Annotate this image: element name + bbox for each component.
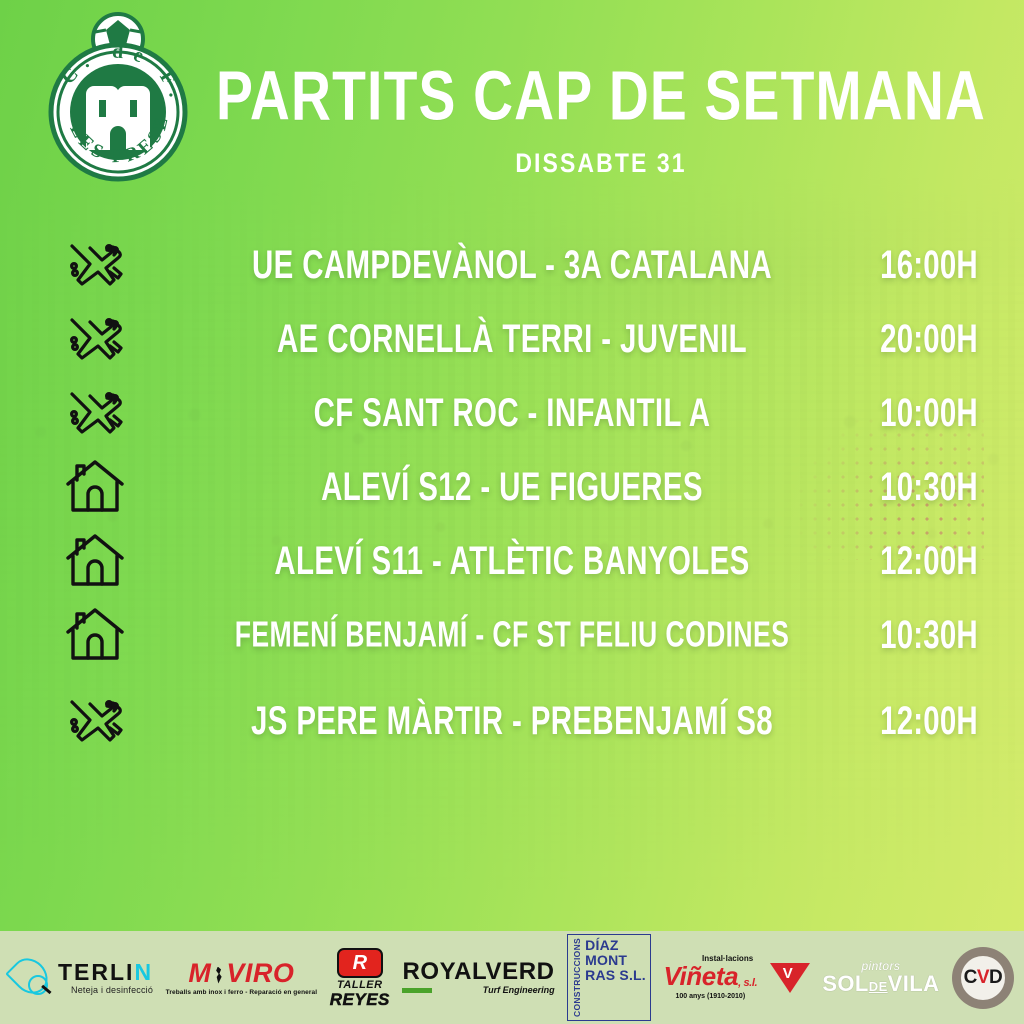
page-title: PARTITS CAP DE SETMANA xyxy=(208,62,994,132)
poster-header: C. de F. LES PRESES PARTITS CAP DE SETMA… xyxy=(0,0,1024,200)
sponsor-vineta-tagline: 100 anys (1910-2010) xyxy=(675,993,745,1000)
sponsor-taller-reyes: R TALLER REYES xyxy=(330,948,390,1008)
match-name: JS PERE MÀRTIR - PREBENJAMÍ S8 xyxy=(206,698,818,745)
match-name: CF SANT ROC - INFANTIL A xyxy=(206,390,818,437)
match-row: CF SANT ROC - INFANTIL A 10:00H xyxy=(0,376,1024,450)
sponsor-vineta-name: Viñeta, s.l. xyxy=(663,963,757,990)
sponsor-cvd: CVD xyxy=(952,947,1014,1009)
plane-icon xyxy=(0,690,190,752)
match-name: ALEVÍ S11 - ATLÈTIC BANYOLES xyxy=(206,538,818,585)
title-block: PARTITS CAP DE SETMANA DISSABTE 31 xyxy=(196,62,1006,174)
moviro-mark-icon xyxy=(213,967,224,984)
sponsor-royalverd-name: ROYALVERD xyxy=(402,960,554,984)
sponsor-vineta: Instal·lacions Viñeta, s.l. 100 anys (19… xyxy=(663,955,757,1000)
house-icon xyxy=(0,530,190,592)
reyes-badge-icon: R xyxy=(337,948,383,978)
sponsor-diaz-line1: DÍAZ xyxy=(585,938,646,953)
plane-icon xyxy=(0,234,190,296)
match-row: FEMENÍ BENJAMÍ - CF ST FELIU CODINES 10:… xyxy=(0,598,1024,672)
sponsor-diaz-line3: RAS S.L. xyxy=(585,968,646,983)
match-row: ALEVÍ S12 - UE FIGUERES 10:30H xyxy=(0,450,1024,524)
match-name: AE CORNELLÀ TERRI - JUVENIL xyxy=(206,316,818,363)
sponsor-terlin-tagline: Neteja i desinfecció xyxy=(58,986,153,995)
sponsor-moviro-name: MVIRO xyxy=(188,960,294,987)
match-name: ALEVÍ S12 - UE FIGUERES xyxy=(206,464,818,511)
sponsor-terlin-accent: N xyxy=(134,959,153,985)
sponsor-royalverd: ROYALVERD Turf Engineering xyxy=(402,960,554,995)
royalverd-bar-icon xyxy=(402,988,432,993)
poster-root: C. de F. LES PRESES PARTITS CAP DE SETMA… xyxy=(0,0,1024,1024)
match-time: 10:00H xyxy=(839,390,1020,437)
match-name: UE CAMPDEVÀNOL - 3A CATALANA xyxy=(206,242,818,289)
house-icon xyxy=(0,604,190,666)
match-time: 10:30H xyxy=(839,612,1020,659)
match-list: UE CAMPDEVÀNOL - 3A CATALANA 16:00H AE C… xyxy=(0,228,1024,758)
plane-icon xyxy=(0,382,190,444)
sponsor-terlin: TERLIN Neteja i desinfecció xyxy=(10,955,153,1001)
club-crest-icon: C. de F. LES PRESES xyxy=(38,12,198,187)
house-icon xyxy=(0,456,190,518)
sponsor-soldevila: pintors SOLDEVILA xyxy=(822,960,939,995)
match-row: UE CAMPDEVÀNOL - 3A CATALANA 16:00H xyxy=(0,228,1024,302)
match-time: 20:00H xyxy=(839,316,1020,363)
sponsor-bar: TERLIN Neteja i desinfecció MVIRO Trebal… xyxy=(0,931,1024,1024)
sponsor-diaz-side: CONSTRUCCIONS xyxy=(572,938,582,1017)
match-row: AE CORNELLÀ TERRI - JUVENIL 20:00H xyxy=(0,302,1024,376)
plane-icon xyxy=(0,308,190,370)
match-time: 12:00H xyxy=(839,698,1020,745)
sponsor-diaz-line2: MONT xyxy=(585,953,646,968)
sponsor-reyes-line1: TALLER xyxy=(337,980,383,991)
cvd-logo-icon: CVD xyxy=(961,956,1005,1000)
water-drop-icon xyxy=(10,955,52,1001)
match-row: JS PERE MÀRTIR - PREBENJAMÍ S8 12:00H xyxy=(0,684,1024,758)
sponsor-triangle xyxy=(770,963,810,993)
sponsor-diaz-mont-ras: CONSTRUCCIONS DÍAZ MONT RAS S.L. xyxy=(567,934,651,1021)
page-subtitle: DISSABTE 31 xyxy=(196,147,1006,179)
match-time: 12:00H xyxy=(839,538,1020,585)
sponsor-moviro-tagline: Treballs amb inox i ferro - Reparació en… xyxy=(166,989,317,996)
triangle-v-icon xyxy=(770,963,810,993)
sponsor-reyes-line2: REYES xyxy=(330,991,390,1008)
sponsor-terlin-name: TERLIN xyxy=(58,960,153,984)
sponsor-moviro: MVIRO Treballs amb inox i ferro - Repara… xyxy=(166,960,317,996)
match-time: 16:00H xyxy=(839,242,1020,289)
sponsor-soldevila-name: SOLDEVILA xyxy=(822,973,939,995)
match-name: FEMENÍ BENJAMÍ - CF ST FELIU CODINES xyxy=(206,614,818,656)
sponsor-royalverd-tagline: Turf Engineering xyxy=(483,986,555,995)
match-row: ALEVÍ S11 - ATLÈTIC BANYOLES 12:00H xyxy=(0,524,1024,598)
match-time: 10:30H xyxy=(839,464,1020,511)
